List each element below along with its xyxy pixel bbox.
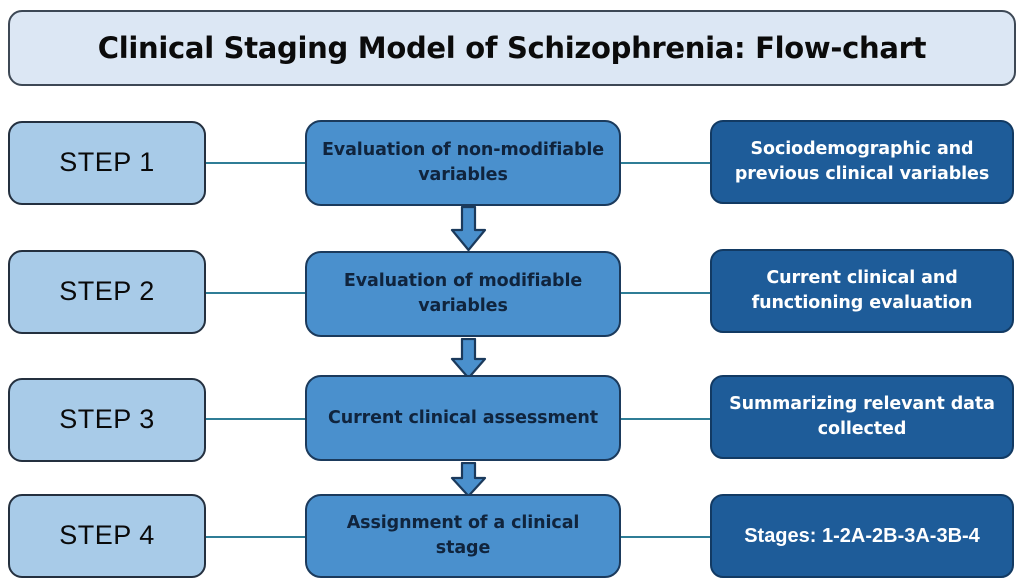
flowchart-canvas: Clinical Staging Model of Schizophrenia:… <box>0 0 1024 585</box>
step-box-1[interactable]: STEP 1 <box>8 121 206 205</box>
connector-step2-to-process2 <box>205 292 307 294</box>
output-box-1-label: Sociodemographic and previous clinical v… <box>726 137 998 187</box>
arrow-step2-to-step3-icon <box>450 338 487 380</box>
process-box-1-label: Evaluation of non-modifiable variables <box>321 138 605 188</box>
connector-step1-to-process1 <box>205 162 307 164</box>
process-box-3-label: Current clinical assessment <box>328 406 598 431</box>
step-box-4-label: STEP 4 <box>59 521 155 551</box>
step-box-4[interactable]: STEP 4 <box>8 494 206 578</box>
process-box-1[interactable]: Evaluation of non-modifiable variables <box>305 120 621 206</box>
connector-process2-to-output2 <box>619 292 711 294</box>
output-box-3[interactable]: Summarizing relevant data collected <box>710 375 1014 459</box>
connector-step4-to-process4 <box>205 536 307 538</box>
connector-step3-to-process3 <box>205 418 307 420</box>
process-box-4[interactable]: Assignment of a clinical stage <box>305 494 621 578</box>
process-box-4-label: Assignment of a clinical stage <box>321 511 605 561</box>
process-box-3[interactable]: Current clinical assessment <box>305 375 621 461</box>
page-title: Clinical Staging Model of Schizophrenia:… <box>98 31 926 65</box>
output-box-4-label: Stages: 1-2A-2B-3A-3B-4 <box>744 522 980 550</box>
connector-process1-to-output1 <box>619 162 711 164</box>
arrow-step3-to-step4-icon <box>450 462 487 498</box>
step-box-3-label: STEP 3 <box>59 405 155 435</box>
process-box-2[interactable]: Evaluation of modifiable variables <box>305 251 621 337</box>
process-box-2-label: Evaluation of modifiable variables <box>321 269 605 319</box>
step-box-2[interactable]: STEP 2 <box>8 250 206 334</box>
output-box-1[interactable]: Sociodemographic and previous clinical v… <box>710 120 1014 204</box>
output-box-2[interactable]: Current clinical and functioning evaluat… <box>710 249 1014 333</box>
step-box-3[interactable]: STEP 3 <box>8 378 206 462</box>
output-box-2-label: Current clinical and functioning evaluat… <box>726 266 998 316</box>
connector-process4-to-output4 <box>619 536 711 538</box>
chart-title-banner: Clinical Staging Model of Schizophrenia:… <box>8 10 1016 86</box>
step-box-1-label: STEP 1 <box>59 148 155 178</box>
arrow-step1-to-step2-icon <box>450 206 487 252</box>
step-box-2-label: STEP 2 <box>59 277 155 307</box>
output-box-4[interactable]: Stages: 1-2A-2B-3A-3B-4 <box>710 494 1014 578</box>
connector-process3-to-output3 <box>619 418 711 420</box>
output-box-3-label: Summarizing relevant data collected <box>726 392 998 442</box>
